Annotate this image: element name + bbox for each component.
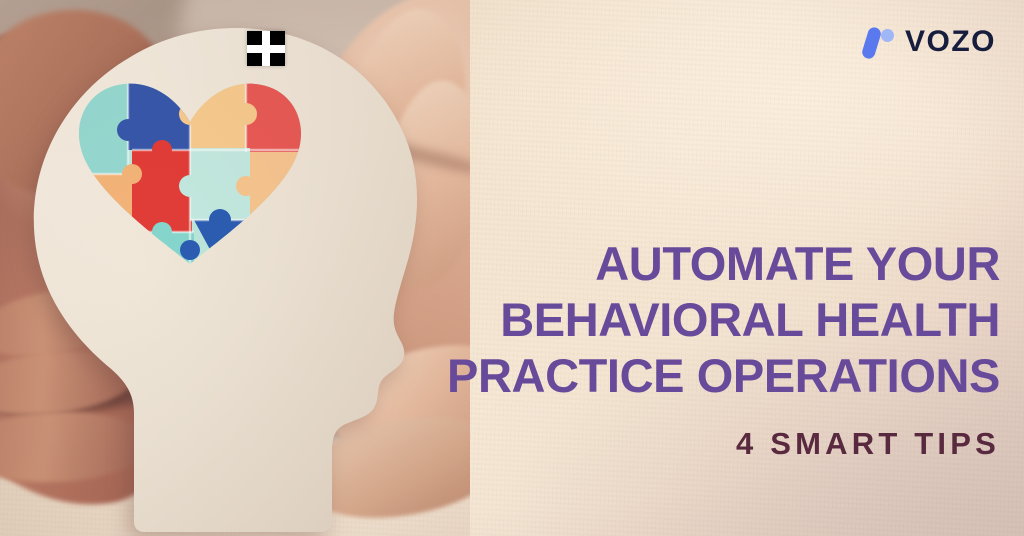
- headline-line-3: PRACTICE OPERATIONS: [360, 348, 1000, 404]
- vozo-wordmark: VOZO: [905, 27, 996, 57]
- headline-line-1: AUTOMATE YOUR: [360, 236, 1000, 292]
- flag-cross-horizontal: [247, 45, 285, 53]
- v-stroke: [861, 26, 883, 60]
- page-title: AUTOMATE YOUR BEHAVIORAL HEALTH PRACTICE…: [360, 236, 1000, 404]
- vozo-v-mark-icon: [859, 24, 895, 60]
- headline-line-2: BEHAVIORAL HEALTH: [360, 292, 1000, 348]
- black-flag-white-cross-icon: [247, 31, 285, 66]
- subtitle: 4 SMART TIPS: [360, 426, 1000, 462]
- vozo-logo[interactable]: VOZO: [859, 24, 996, 60]
- puzzle-heart: [70, 78, 310, 268]
- v-dot: [881, 29, 894, 42]
- headline-block: AUTOMATE YOUR BEHAVIORAL HEALTH PRACTICE…: [360, 236, 1000, 462]
- marketing-banner: VOZO AUTOMATE YOUR BEHAVIORAL HEALTH PRA…: [0, 0, 1024, 536]
